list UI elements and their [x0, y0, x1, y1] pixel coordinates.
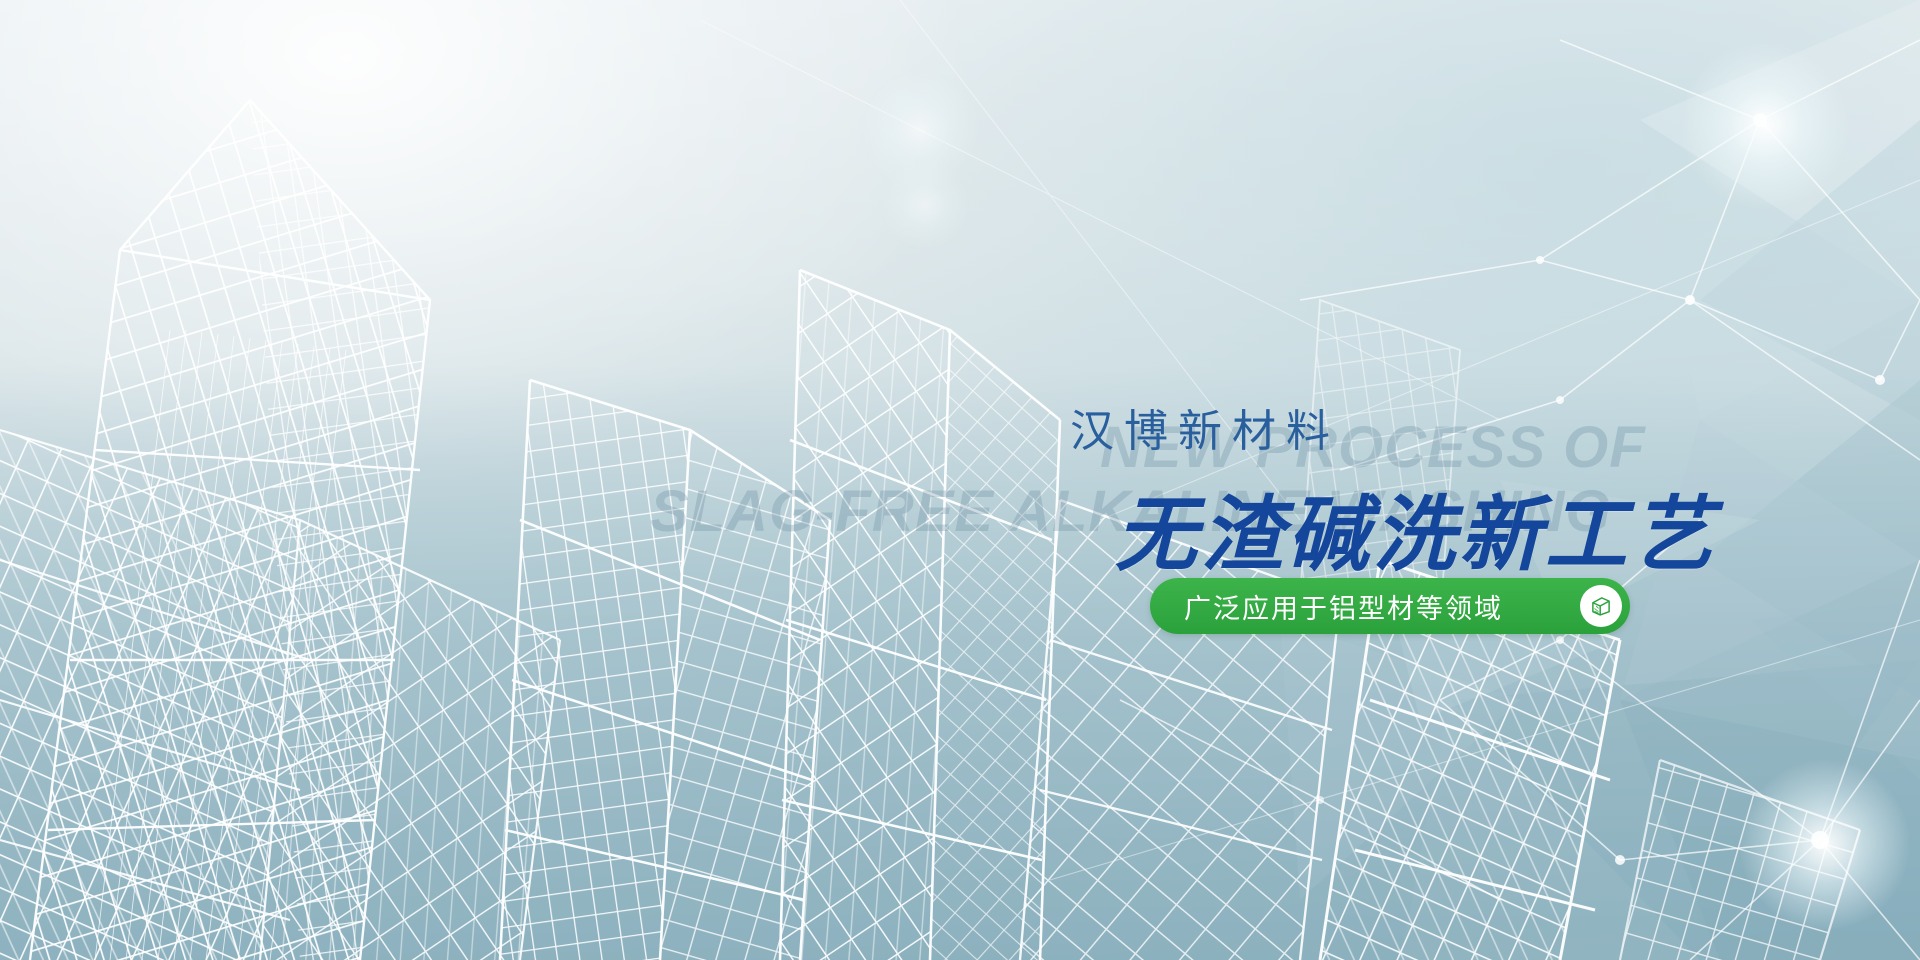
application-badge-label: 广泛应用于铝型材等领域 [1184, 587, 1503, 626]
cube-3d-icon [1580, 585, 1622, 627]
brand-name: 汉博新材料 [1070, 395, 1340, 459]
application-badge[interactable]: 广泛应用于铝型材等领域 [1150, 578, 1630, 634]
hero-banner: NEW PROCESS OF SLAG-FREE ALKALINE WASHIN… [0, 0, 1920, 960]
page-title: 无渣碱洗新工艺 [1115, 468, 1717, 587]
